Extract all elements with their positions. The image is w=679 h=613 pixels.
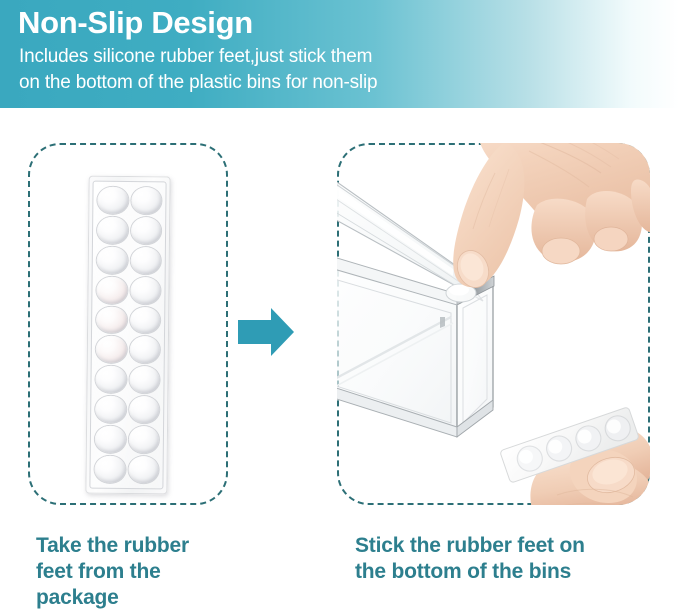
rubber-foot-bumper bbox=[95, 396, 126, 423]
caption-line: Take the rubber bbox=[36, 533, 246, 559]
rubber-foot-bumper bbox=[95, 426, 126, 453]
rubber-foot-bumper bbox=[96, 336, 127, 363]
rubber-foot-bumper bbox=[131, 187, 162, 214]
step-2-illustration bbox=[337, 143, 650, 505]
caption-step-2: Stick the rubber feet on the bottom of t… bbox=[355, 533, 655, 585]
page-title: Non-Slip Design bbox=[18, 4, 253, 42]
rubber-foot-bumper bbox=[95, 366, 126, 393]
caption-line: package bbox=[36, 585, 246, 611]
rubber-foot-bumper bbox=[130, 277, 161, 304]
bumper-grid bbox=[93, 186, 162, 485]
rubber-foot-bumper bbox=[97, 246, 128, 273]
hand-pressing-rubber-foot bbox=[441, 143, 650, 323]
rubber-foot-bumper bbox=[130, 307, 161, 334]
rubber-foot-bumper bbox=[130, 217, 161, 244]
arrow-right-icon bbox=[238, 306, 294, 358]
rubber-foot-bumper bbox=[128, 426, 159, 453]
rubber-foot-bumper bbox=[96, 276, 127, 303]
rubber-foot-bumper bbox=[128, 456, 159, 483]
caption-line: the bottom of the bins bbox=[355, 559, 655, 585]
rubber-foot-bumper bbox=[97, 187, 128, 214]
caption-line: Stick the rubber feet on bbox=[355, 533, 655, 559]
rubber-foot-bumper bbox=[94, 456, 125, 483]
rubber-foot-bumper bbox=[97, 217, 128, 244]
blister-pack bbox=[85, 176, 170, 495]
caption-line: feet from the bbox=[36, 559, 246, 585]
subtitle-line-2: on the bottom of the plastic bins for no… bbox=[19, 70, 377, 96]
rubber-foot-bumper bbox=[129, 337, 160, 364]
rubber-foot-bumper bbox=[130, 247, 161, 274]
header-subtitle: Includes silicone rubber feet,just stick… bbox=[19, 44, 377, 96]
subtitle-line-1: Includes silicone rubber feet,just stick… bbox=[19, 44, 377, 70]
hand-holding-rubber-feet-strip bbox=[487, 383, 650, 505]
header-banner: Non-Slip Design Includes silicone rubber… bbox=[0, 0, 679, 108]
rubber-foot-bumper bbox=[96, 306, 127, 333]
rubber-foot-bumper bbox=[129, 366, 160, 393]
caption-step-1: Take the rubber feet from the package bbox=[36, 533, 246, 611]
rubber-foot-bumper bbox=[129, 396, 160, 423]
